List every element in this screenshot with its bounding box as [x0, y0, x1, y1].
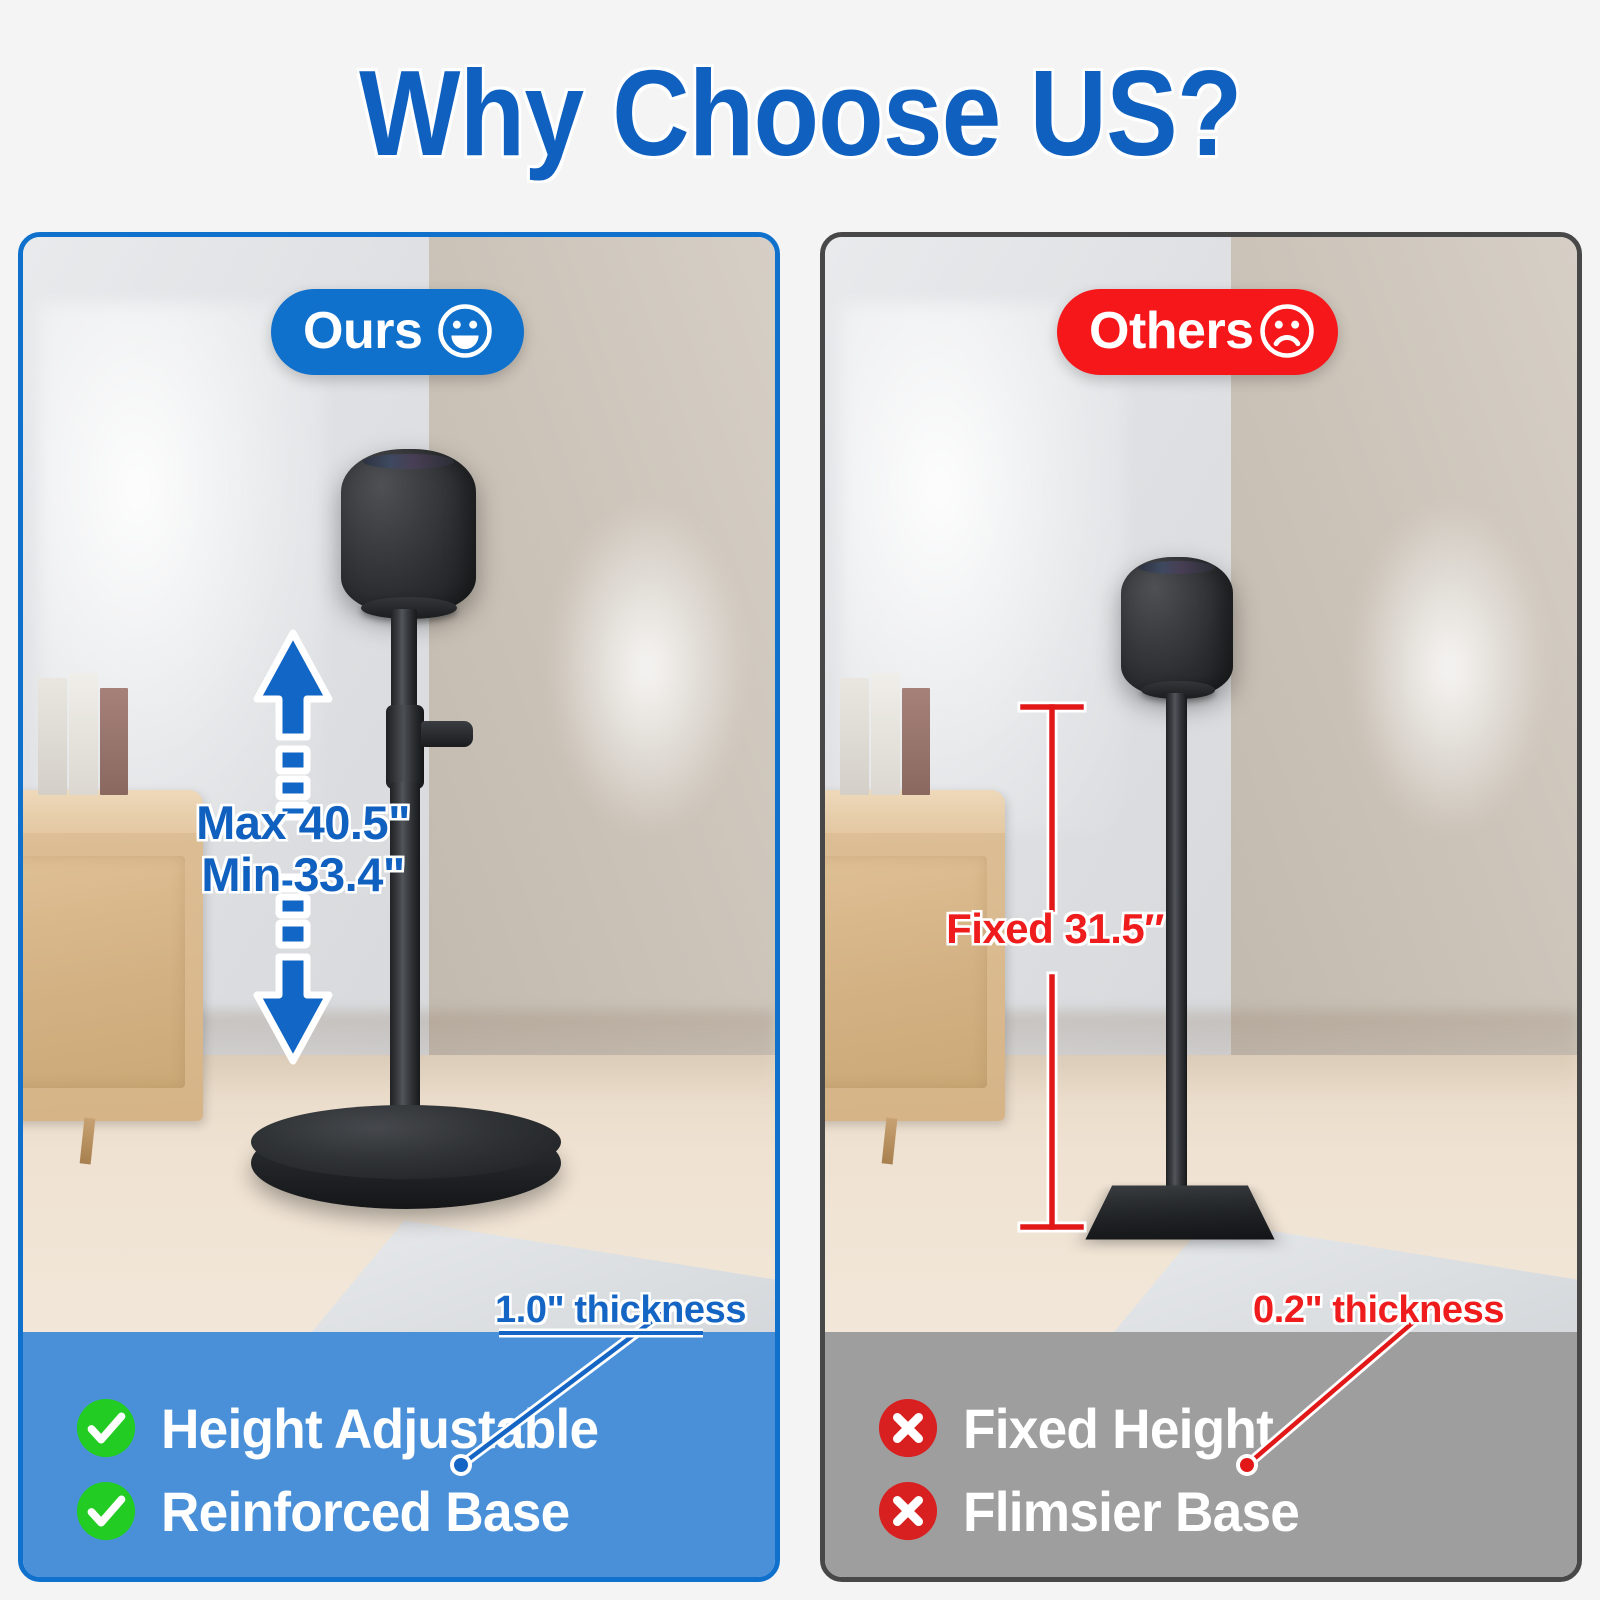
- book: [840, 678, 869, 795]
- flat-square-plate-base: [1085, 1185, 1274, 1239]
- wooden-sideboard: [825, 790, 1005, 1122]
- thickness-label-others: 0.2" thickness: [1253, 1289, 1504, 1332]
- x-circle-icon: [877, 1397, 939, 1459]
- check-circle-icon: [75, 1480, 137, 1542]
- height-min-label: Min 33.4": [143, 849, 463, 901]
- comparison-panel-ours: Ours Max 40.5" Min 33.4" 1.: [18, 232, 780, 1582]
- product-photo-others: [825, 237, 1577, 1342]
- book: [902, 688, 931, 795]
- check-circle-icon: [75, 1397, 137, 1459]
- smart-speaker: [1121, 557, 1233, 697]
- comparison-panel-others: Others Fixed 31.5″ 0.2" thickness: [820, 232, 1582, 1582]
- wall-highlight-secondary: [549, 502, 745, 834]
- x-circle-icon: [877, 1480, 939, 1542]
- badge-others-label: Others: [1089, 301, 1254, 361]
- feature-row: Flimsier Base: [877, 1479, 1577, 1544]
- height-max-label: Max 40.5": [143, 797, 463, 849]
- badge-ours: Ours: [271, 289, 524, 375]
- sideboard-door: [825, 856, 987, 1088]
- badge-ours-label: Ours: [303, 301, 422, 361]
- smart-speaker: [341, 449, 476, 614]
- book: [871, 673, 900, 795]
- book: [100, 688, 129, 795]
- page-title: Why Choose US?: [359, 43, 1241, 183]
- feature-label: Flimsier Base: [963, 1479, 1299, 1544]
- height-range-label: Max 40.5" Min 33.4": [143, 797, 463, 900]
- badge-others: Others: [1057, 289, 1338, 375]
- book: [69, 673, 98, 795]
- smiley-face-icon: [436, 302, 494, 360]
- sideboard-top: [825, 790, 1005, 833]
- sad-face-icon: [1258, 302, 1316, 360]
- book: [38, 678, 67, 795]
- feature-row: Reinforced Base: [75, 1479, 775, 1544]
- vertical-measurement-rule-icon: [1007, 697, 1097, 1237]
- adjustment-knob: [421, 721, 473, 747]
- header: Why Choose US?: [0, 0, 1600, 225]
- product-photo-ours: [23, 237, 775, 1342]
- wall-highlight-secondary: [1351, 502, 1547, 834]
- books-on-sideboard: [38, 673, 128, 795]
- fixed-height-label: Fixed 31.5″: [905, 905, 1205, 953]
- feature-label: Reinforced Base: [161, 1479, 569, 1544]
- books-on-sideboard: [840, 673, 930, 795]
- height-adjustment-collar: [386, 705, 424, 789]
- thickness-label-ours: 1.0" thickness: [495, 1289, 746, 1332]
- round-base-top-surface: [251, 1105, 561, 1179]
